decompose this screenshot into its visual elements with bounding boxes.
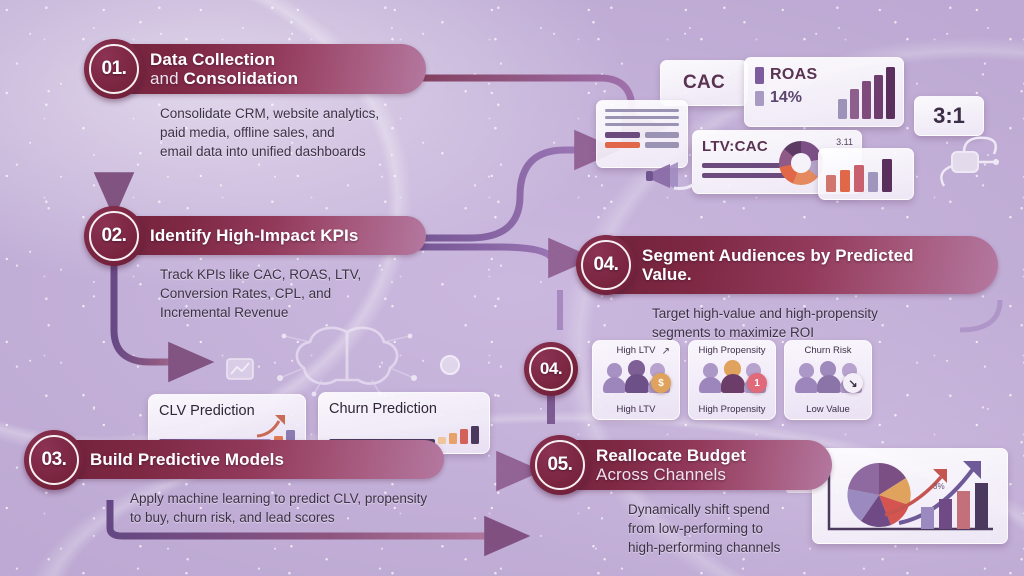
roas-label: ROAS bbox=[770, 66, 817, 84]
step-02-desc-line1: Track KPIs like CAC, ROAS, LTV, bbox=[160, 265, 426, 284]
step-03-header[interactable]: 03. Build Predictive Models bbox=[26, 440, 444, 479]
step-05-badge: 05. bbox=[530, 435, 590, 495]
step-02-title-line1: Identify High-Impact KPIs bbox=[150, 226, 358, 245]
step-02-badge: 02. bbox=[84, 206, 144, 266]
segment-label-high-propensity: High Propensity bbox=[698, 404, 765, 415]
step-01-title: Data Collection and Consolidation bbox=[150, 50, 298, 88]
step-03: 03. Build Predictive Models Apply machin… bbox=[26, 440, 444, 527]
step-01-title-line1: Data Collection bbox=[150, 50, 298, 69]
roas-value: 14% bbox=[770, 89, 802, 107]
step-03-desc-line1: Apply machine learning to predict CLV, p… bbox=[130, 489, 444, 508]
roas-value-swatch bbox=[755, 91, 764, 106]
dashboard-illustration: CAC ROAS 14% 3:1 bbox=[596, 52, 1024, 202]
segment-badge-stem bbox=[547, 392, 555, 424]
infographic-canvas: CAC ROAS 14% 3:1 bbox=[0, 0, 1024, 576]
step-05-number: 05. bbox=[548, 454, 573, 476]
roas-legend-swatch bbox=[755, 67, 764, 84]
step-05-title: Reallocate Budget Across Channels bbox=[596, 446, 746, 484]
step-02-description: Track KPIs like CAC, ROAS, LTV, Conversi… bbox=[160, 265, 426, 322]
step-02-header[interactable]: 02. Identify High-Impact KPIs bbox=[86, 216, 426, 255]
step-02-title: Identify High-Impact KPIs bbox=[150, 226, 358, 245]
step-02-desc-line2: Conversion Rates, CPL, and bbox=[160, 284, 426, 303]
step-04-number: 04. bbox=[594, 254, 619, 276]
step-01-badge: 01. bbox=[84, 39, 144, 99]
step-03-number: 03. bbox=[42, 449, 67, 471]
step-04: 04. Segment Audiences by Predicted Value… bbox=[578, 236, 998, 342]
step-01-header[interactable]: 01. Data Collection and Consolidation bbox=[86, 44, 426, 94]
roas-bar-chart bbox=[838, 71, 895, 119]
segment-title-high-ltv: High LTV bbox=[617, 345, 656, 356]
step-03-desc-line2: to buy, churn risk, and lead scores bbox=[130, 508, 444, 527]
step-04-description: Target high-value and high-propensity se… bbox=[652, 304, 998, 342]
ltv-cac-label: LTV:CAC bbox=[702, 138, 768, 155]
step-01-description: Consolidate CRM, website analytics, paid… bbox=[160, 104, 426, 161]
step-01-title-thin: and bbox=[150, 69, 179, 88]
network-node-icon bbox=[934, 132, 1014, 192]
clv-prediction-label: CLV Prediction bbox=[159, 403, 255, 419]
people-icon-group-2: 1 bbox=[699, 359, 765, 393]
segment-title-churn-risk: Churn Risk bbox=[805, 345, 852, 356]
step-01-number: 01. bbox=[102, 58, 127, 80]
step-01-title-bold: Consolidation bbox=[184, 69, 299, 88]
step-03-title: Build Predictive Models bbox=[90, 450, 284, 469]
megaphone-icon bbox=[644, 158, 700, 194]
step-05-desc-line3: high-performing channels bbox=[628, 538, 832, 557]
step-04-title-line1: Segment Audiences by Predicted Value. bbox=[642, 246, 964, 284]
step-01: 01. Data Collection and Consolidation Co… bbox=[86, 44, 426, 162]
segment-label-low-value: Low Value bbox=[806, 404, 850, 415]
step-01-desc-line1: Consolidate CRM, website analytics, bbox=[160, 104, 426, 123]
ltv-cac-donut-chart bbox=[779, 141, 823, 185]
mini-bar-card bbox=[818, 148, 914, 200]
ltv-cac-ratio-badge: 3:1 bbox=[914, 96, 984, 136]
budget-pie-and-bars: 3% bbox=[813, 449, 1009, 545]
clv-trend-arrow-icon bbox=[255, 411, 295, 439]
segment-cards-group: High LTV ↗ $ High LTV High Propensity bbox=[592, 340, 872, 420]
segment-step-badge: 04. bbox=[524, 342, 578, 396]
roas-kpi-card: ROAS 14% bbox=[744, 57, 904, 127]
step-05-title-line1: Reallocate Budget bbox=[596, 446, 746, 465]
step-05-description: Dynamically shift spend from low-perform… bbox=[628, 500, 832, 557]
segment-card-high-ltv[interactable]: High LTV ↗ $ High LTV bbox=[592, 340, 680, 420]
step-01-title-line2: and Consolidation bbox=[150, 69, 298, 88]
mini-chart-glyph-icon bbox=[226, 358, 254, 380]
segment-card-high-propensity[interactable]: High Propensity 1 High Propensity bbox=[688, 340, 776, 420]
step-04-desc-line1: Target high-value and high-propensity bbox=[652, 304, 998, 323]
step-05: 05. Reallocate Budget Across Channels Dy… bbox=[532, 440, 832, 558]
people-icon-group-3: ↘ bbox=[795, 359, 861, 393]
donut-value: 3.11 bbox=[836, 137, 853, 147]
step-01-desc-line2: paid media, offline sales, and bbox=[160, 123, 426, 142]
segment-card-churn-risk[interactable]: Churn Risk ↘ Low Value bbox=[784, 340, 872, 420]
step-04-badge: 04. bbox=[576, 235, 636, 295]
step-02-number: 02. bbox=[102, 225, 127, 247]
step-03-description: Apply machine learning to predict CLV, p… bbox=[130, 489, 444, 527]
step-04-title: Segment Audiences by Predicted Value. bbox=[642, 246, 964, 284]
step-05-desc-line1: Dynamically shift spend bbox=[628, 500, 832, 519]
node-circle-icon bbox=[440, 355, 460, 375]
brain-ai-icon bbox=[262, 318, 432, 398]
segment-chip-count: 1 bbox=[747, 373, 767, 393]
ratio-value: 3:1 bbox=[933, 103, 965, 129]
segment-title-high-propensity: High Propensity bbox=[698, 345, 765, 356]
step-05-header[interactable]: 05. Reallocate Budget Across Channels bbox=[532, 440, 832, 490]
step-02: 02. Identify High-Impact KPIs Track KPIs… bbox=[86, 216, 426, 323]
step-05-title-line2: Across Channels bbox=[596, 465, 746, 484]
cac-label: CAC bbox=[683, 72, 725, 94]
step-03-badge: 03. bbox=[24, 430, 84, 490]
budget-chart-caption: 3% bbox=[933, 482, 945, 491]
segment-chip-down-arrow: ↘ bbox=[843, 373, 863, 393]
step-05-desc-line2: from low-performing to bbox=[628, 519, 832, 538]
step-04-desc-line2: segments to maximize ROI bbox=[652, 323, 998, 342]
step-05-title-bold: Across Channels bbox=[596, 465, 726, 484]
people-icon-group-1: $ bbox=[603, 359, 669, 393]
segment-chip-dollar: $ bbox=[651, 373, 671, 393]
step-02-desc-line3: Incremental Revenue bbox=[160, 303, 426, 322]
segment-label-high-ltv: High LTV bbox=[617, 404, 656, 415]
step-04-header[interactable]: 04. Segment Audiences by Predicted Value… bbox=[578, 236, 998, 294]
budget-reallocation-chart-card: 3% bbox=[812, 448, 1008, 544]
segment-step-badge-number: 04. bbox=[540, 359, 562, 379]
step-01-desc-line3: email data into unified dashboards bbox=[160, 142, 426, 161]
trend-up-arrow-icon: ↗ bbox=[662, 346, 670, 357]
churn-prediction-label: Churn Prediction bbox=[329, 401, 437, 417]
step-03-title-line1: Build Predictive Models bbox=[90, 450, 284, 469]
